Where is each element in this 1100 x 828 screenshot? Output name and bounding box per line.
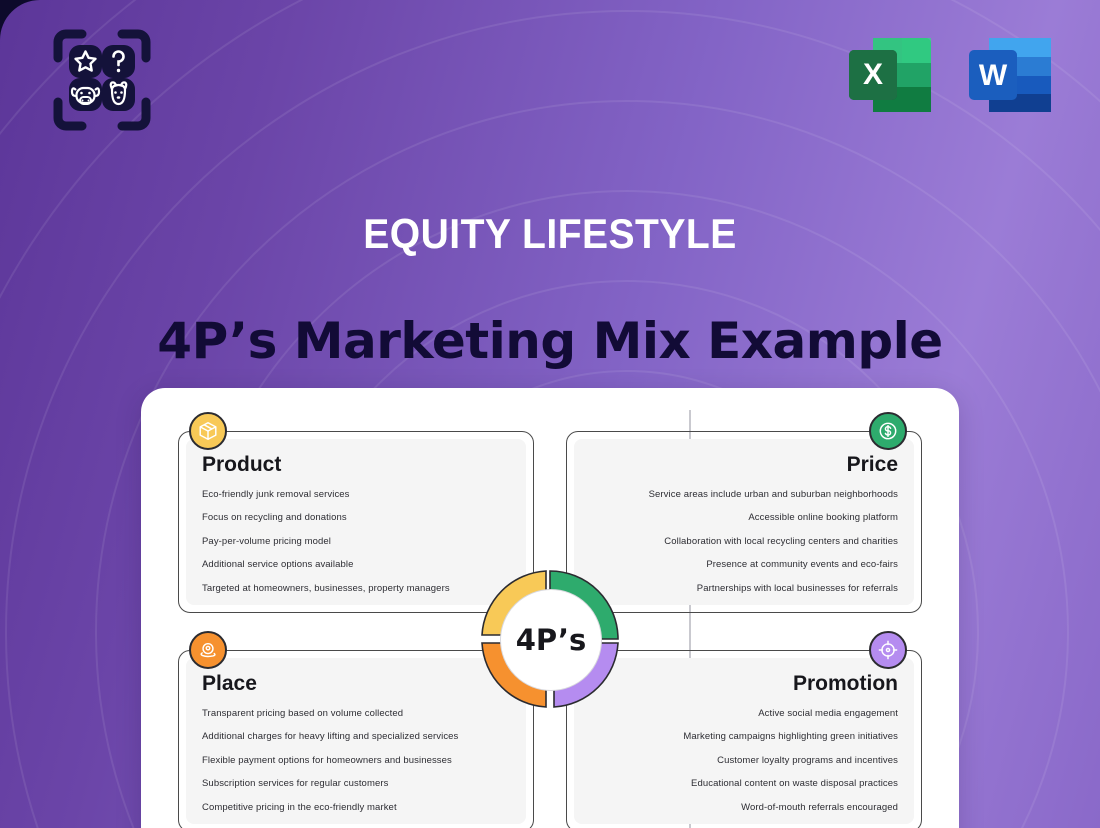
quadrant-item: Eco-friendly junk removal services — [202, 490, 510, 501]
donut-center-label: 4P’s — [500, 589, 602, 691]
quadrant-item: Word-of-mouth referrals encouraged — [590, 803, 898, 814]
quadrant-item: Accessible online booking platform — [590, 513, 898, 524]
svg-text:X: X — [863, 58, 883, 91]
quadrant-item: Focus on recycling and donations — [202, 513, 510, 524]
quadrant-title-place: Place — [202, 672, 510, 696]
quadrant-item: Transparent pricing based on volume coll… — [202, 709, 510, 720]
quadrant-item: Pay-per-volume pricing model — [202, 537, 510, 548]
quadrant-item: Additional service options available — [202, 560, 510, 571]
svg-text:W: W — [979, 59, 1008, 92]
quadrant-item: Service areas include urban and suburban… — [590, 490, 898, 501]
quadrant-item: Targeted at homeowners, businesses, prop… — [202, 584, 510, 595]
page-title: 4P’s Marketing Mix Example — [0, 312, 1100, 370]
dollar-coin-icon[interactable] — [869, 412, 907, 450]
quadrant-item: Competitive pricing in the eco-friendly … — [202, 803, 510, 814]
excel-icon[interactable]: X — [845, 30, 935, 120]
quadrant-item: Active social media engagement — [590, 709, 898, 720]
quadrant-item: Collaboration with local recycling cente… — [590, 537, 898, 548]
quadrant-item: Customer loyalty programs and incentives — [590, 756, 898, 767]
quadrant-title-price: Price — [590, 453, 898, 477]
quadrant-item: Partnerships with local businesses for r… — [590, 584, 898, 595]
package-box-icon[interactable] — [189, 412, 227, 450]
quadrant-item: Marketing campaigns highlighting green i… — [590, 732, 898, 743]
quadrant-item: Flexible payment options for homeowners … — [202, 756, 510, 767]
quadrant-item: Educational content on waste disposal pr… — [590, 779, 898, 790]
quadrant-item: Subscription services for regular custom… — [202, 779, 510, 790]
quadrant-title-product: Product — [202, 453, 510, 477]
quadrant-item: Additional charges for heavy lifting and… — [202, 732, 510, 743]
format-icons: X W — [845, 30, 1055, 120]
quadrant-title-promotion: Promotion — [590, 672, 898, 696]
location-pin-icon[interactable] — [189, 631, 227, 669]
page-kicker: EQUITY LIFESTYLE — [39, 210, 1062, 258]
quadrant-item: Presence at community events and eco-fai… — [590, 560, 898, 571]
target-crosshair-icon[interactable] — [869, 631, 907, 669]
quiz-scan-logo[interactable] — [52, 28, 152, 132]
word-icon[interactable]: W — [965, 30, 1055, 120]
slide-canvas: X W EQUITY LIFESTYLE 4P’s Marketing Mix … — [0, 0, 1100, 828]
center-donut: 4P’s — [469, 558, 631, 720]
